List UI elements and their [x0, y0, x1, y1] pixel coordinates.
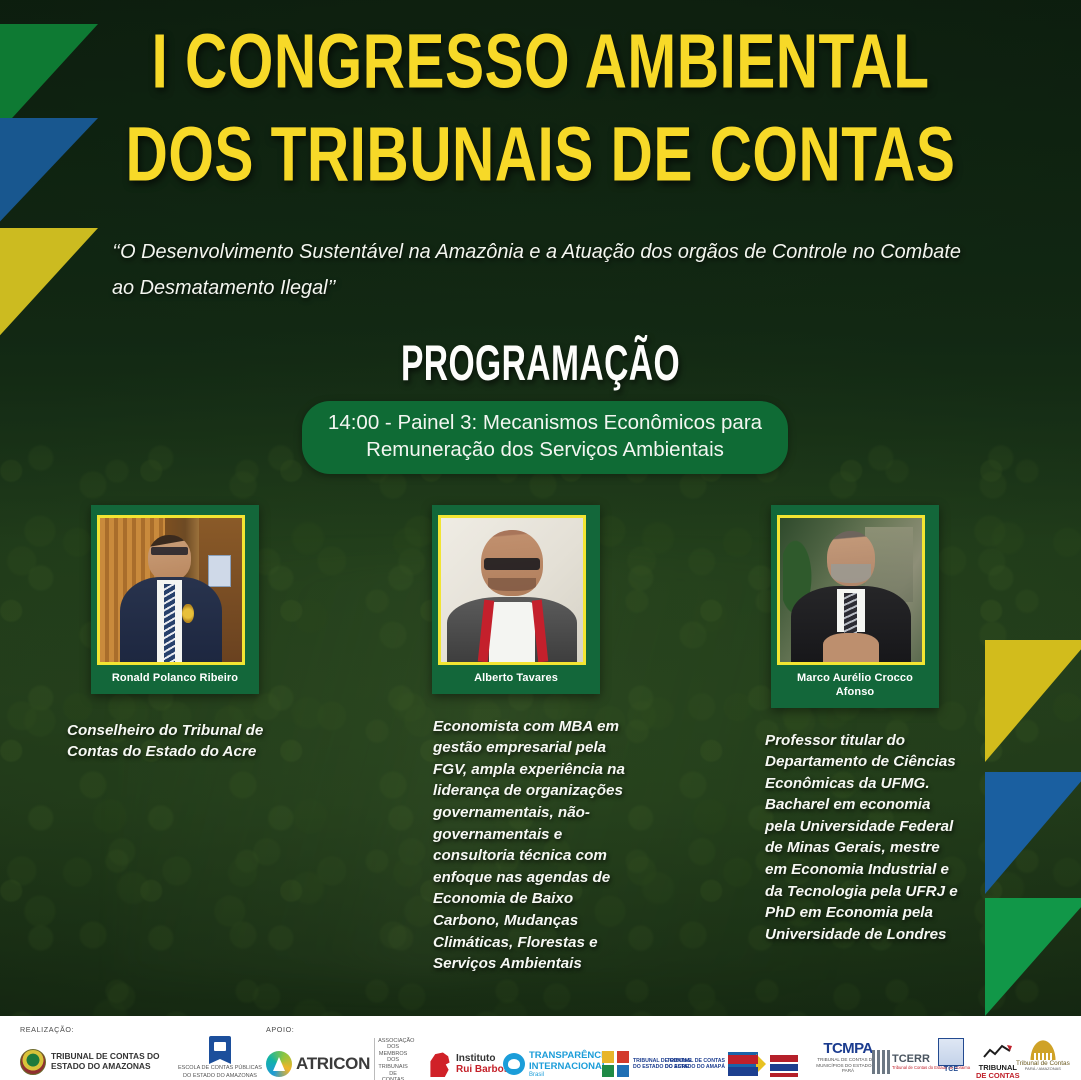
speaker-photo-card-1: Ronald Polanco Ribeiro	[91, 505, 259, 694]
atricon-wordmark: ATRICON	[296, 1054, 370, 1074]
speaker-photo-frame-1	[97, 515, 245, 665]
tcmpa-wordmark: TCMPA	[823, 1040, 872, 1057]
speaker-name-badge-1: Ronald Polanco Ribeiro	[101, 665, 249, 694]
transparencia-globe-icon	[503, 1053, 525, 1075]
realizacao-label: REALIZAÇÃO:	[20, 1025, 74, 1034]
ti-line-3: Brasil	[529, 1072, 611, 1078]
poster-root: I CONGRESSO AMBIENTAL DOS TRIBUNAIS DE C…	[0, 0, 1081, 1080]
atricon-logo: ATRICON ASSOCIAÇÃO DOS MEMBROS DOS TRIBU…	[266, 1042, 408, 1080]
atricon-mark-icon	[266, 1051, 292, 1077]
tce-box-wordmark: TCE	[944, 1066, 958, 1073]
atricon-subtext: ASSOCIAÇÃO DOS MEMBROS DOS TRIBUNAIS DE …	[374, 1038, 408, 1080]
escola-line-1: ESCOLA DE CONTAS PÚBLICAS	[178, 1065, 262, 1072]
tce-acre-mark-icon	[602, 1051, 630, 1077]
event-subtitle: ‘‘O Desenvolvimento Sustentável na Amazô…	[112, 234, 975, 305]
speaker-photo-frame-2	[438, 515, 586, 665]
apoio-label: APOIO:	[266, 1025, 294, 1034]
schedule-heading: PROGRAMAÇÃO	[97, 335, 983, 392]
dome-building-icon	[1029, 1038, 1057, 1060]
speaker-card-3: Marco Aurélio Crocco Afonso Professor ti…	[757, 505, 962, 945]
speaker-photo-1	[100, 518, 242, 662]
tce-amazonas-line-2: ESTADO DO AMAZONAS	[51, 1062, 160, 1072]
chart-arrow-icon	[983, 1040, 1013, 1064]
speaker-card-2: Alberto Tavares Economista com MBA em ge…	[428, 505, 640, 975]
tce-amazonas-logo: TRIBUNAL DE CONTAS DO ESTADO DO AMAZONAS	[20, 1040, 160, 1080]
speaker-card-1: Ronald Polanco Ribeiro Conselheiro do Tr…	[57, 505, 337, 763]
speaker-photo-frame-3	[777, 515, 925, 665]
tribunal-de-contas-dome-logo: Tribunal de Contas PARÁ / AMAZONAS	[1016, 1038, 1070, 1080]
tribunal-line-2: DE CONTAS	[976, 1072, 1020, 1080]
speaker-photo-2	[441, 518, 583, 662]
amazonas-crest-icon	[20, 1049, 46, 1075]
speaker-bio-1: Conselheiro do Tribunal de Contas do Est…	[67, 720, 317, 763]
speaker-photo-card-2: Alberto Tavares	[432, 505, 600, 694]
decorative-triangle-left-yellow	[0, 228, 98, 344]
rui-barbosa-face-icon	[428, 1051, 452, 1077]
instituto-rui-barbosa-logo: Instituto Rui Barbosa	[428, 1042, 515, 1080]
dome-line-2: PARÁ / AMAZONAS	[1025, 1067, 1061, 1072]
tce-logo-red	[728, 1044, 758, 1080]
speaker-photo-3	[780, 518, 922, 662]
ti-line-1: TRANSPARÊNCIA	[529, 1050, 611, 1061]
speaker-bio-2: Economista com MBA em gestão empresarial…	[433, 716, 643, 975]
speaker-name-badge-2: Alberto Tavares	[442, 665, 590, 694]
speakers-section: Ronald Polanco Ribeiro Conselheiro do Tr…	[0, 505, 1081, 975]
tce-stars-logo	[770, 1044, 798, 1080]
tce-box-icon	[938, 1038, 964, 1066]
tce-red-mark-icon	[728, 1055, 758, 1077]
event-title-line-2: DOS TRIBUNAIS DE CONTAS	[38, 116, 1043, 195]
speaker-bio-3: Professor titular do Departamento de Ciê…	[765, 730, 965, 946]
escola-line-2: DO ESTADO DO AMAZONAS	[183, 1073, 257, 1080]
tcerr-building-icon	[872, 1050, 890, 1074]
tce-stars-mark-icon	[770, 1055, 798, 1077]
sponsors-footer: REALIZAÇÃO: APOIO: TRIBUNAL DE CONTAS DO…	[0, 1016, 1081, 1080]
tce-amapa-line-2: DO ESTADO DO AMAPÁ	[665, 1064, 725, 1070]
tce-box-logo: TCE	[938, 1038, 964, 1080]
speaker-name-badge-3: Marco Aurélio Crocco Afonso	[781, 665, 929, 708]
speaker-photo-card-3: Marco Aurélio Crocco Afonso	[771, 505, 939, 708]
book-icon	[209, 1036, 231, 1059]
event-title: I CONGRESSO AMBIENTAL DOS TRIBUNAIS DE C…	[0, 30, 1081, 188]
tribunal-de-contas-logo: TRIBUNAL DE CONTAS	[976, 1040, 1020, 1080]
panel-badge: 14:00 - Painel 3: Mecanismos Econômicos …	[302, 401, 788, 474]
escola-contas-publicas-logo: ESCOLA DE CONTAS PÚBLICAS DO ESTADO DO A…	[178, 1036, 262, 1080]
event-title-line-1: I CONGRESSO AMBIENTAL	[38, 23, 1043, 102]
ti-line-2: INTERNACIONAL	[529, 1061, 611, 1072]
transparencia-internacional-logo: TRANSPARÊNCIA INTERNACIONAL Brasil	[503, 1042, 611, 1080]
